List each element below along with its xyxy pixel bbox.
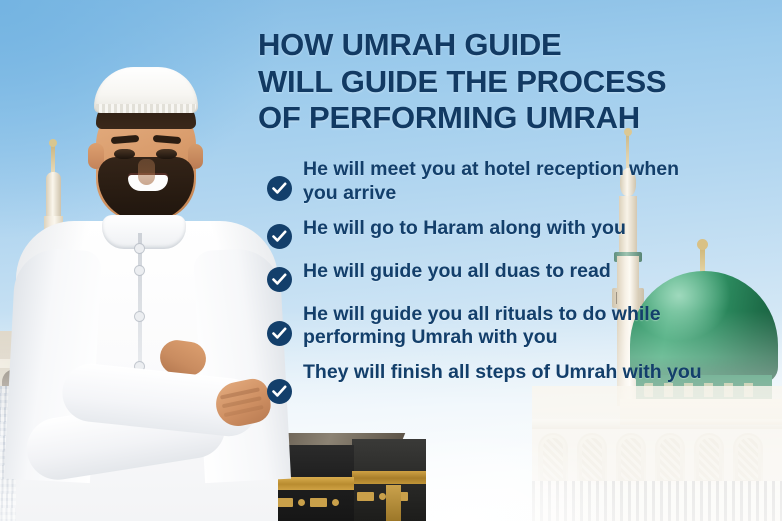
list-item: He will go to Haram along with you: [267, 213, 717, 249]
list-item-label: He will meet you at hotel reception when…: [303, 154, 717, 206]
check-circle-icon: [267, 379, 292, 404]
headline-line-1: HOW UMRAH GUIDE: [258, 27, 713, 64]
umrah-guide-banner: HOW UMRAH GUIDE WILL GUIDE THE PROCESS O…: [0, 0, 782, 521]
list-item: He will guide you all duas to read: [267, 256, 717, 292]
list-item-label: He will guide you all duas to read: [303, 256, 611, 284]
list-item: He will meet you at hotel reception when…: [267, 154, 717, 206]
text-content: HOW UMRAH GUIDE WILL GUIDE THE PROCESS O…: [255, 0, 715, 521]
check-circle-icon: [267, 176, 292, 201]
headline-line-3: OF PERFORMING UMRAH: [258, 100, 713, 137]
benefits-list: He will meet you at hotel reception when…: [267, 154, 717, 411]
check-circle-icon: [267, 267, 292, 292]
page-title: HOW UMRAH GUIDE WILL GUIDE THE PROCESS O…: [258, 27, 713, 137]
check-circle-icon: [267, 321, 292, 346]
list-item: They will finish all steps of Umrah with…: [267, 357, 717, 404]
list-item-label: They will finish all steps of Umrah with…: [303, 357, 702, 385]
check-circle-icon: [267, 224, 292, 249]
list-item-label: He will go to Haram along with you: [303, 213, 626, 241]
kufi-cap: [94, 67, 198, 113]
headline-line-2: WILL GUIDE THE PROCESS: [258, 64, 713, 101]
list-item: He will guide you all rituals to do whil…: [267, 299, 717, 351]
list-item-label: He will guide you all rituals to do whil…: [303, 299, 717, 351]
umrah-guide-person: [10, 51, 285, 521]
